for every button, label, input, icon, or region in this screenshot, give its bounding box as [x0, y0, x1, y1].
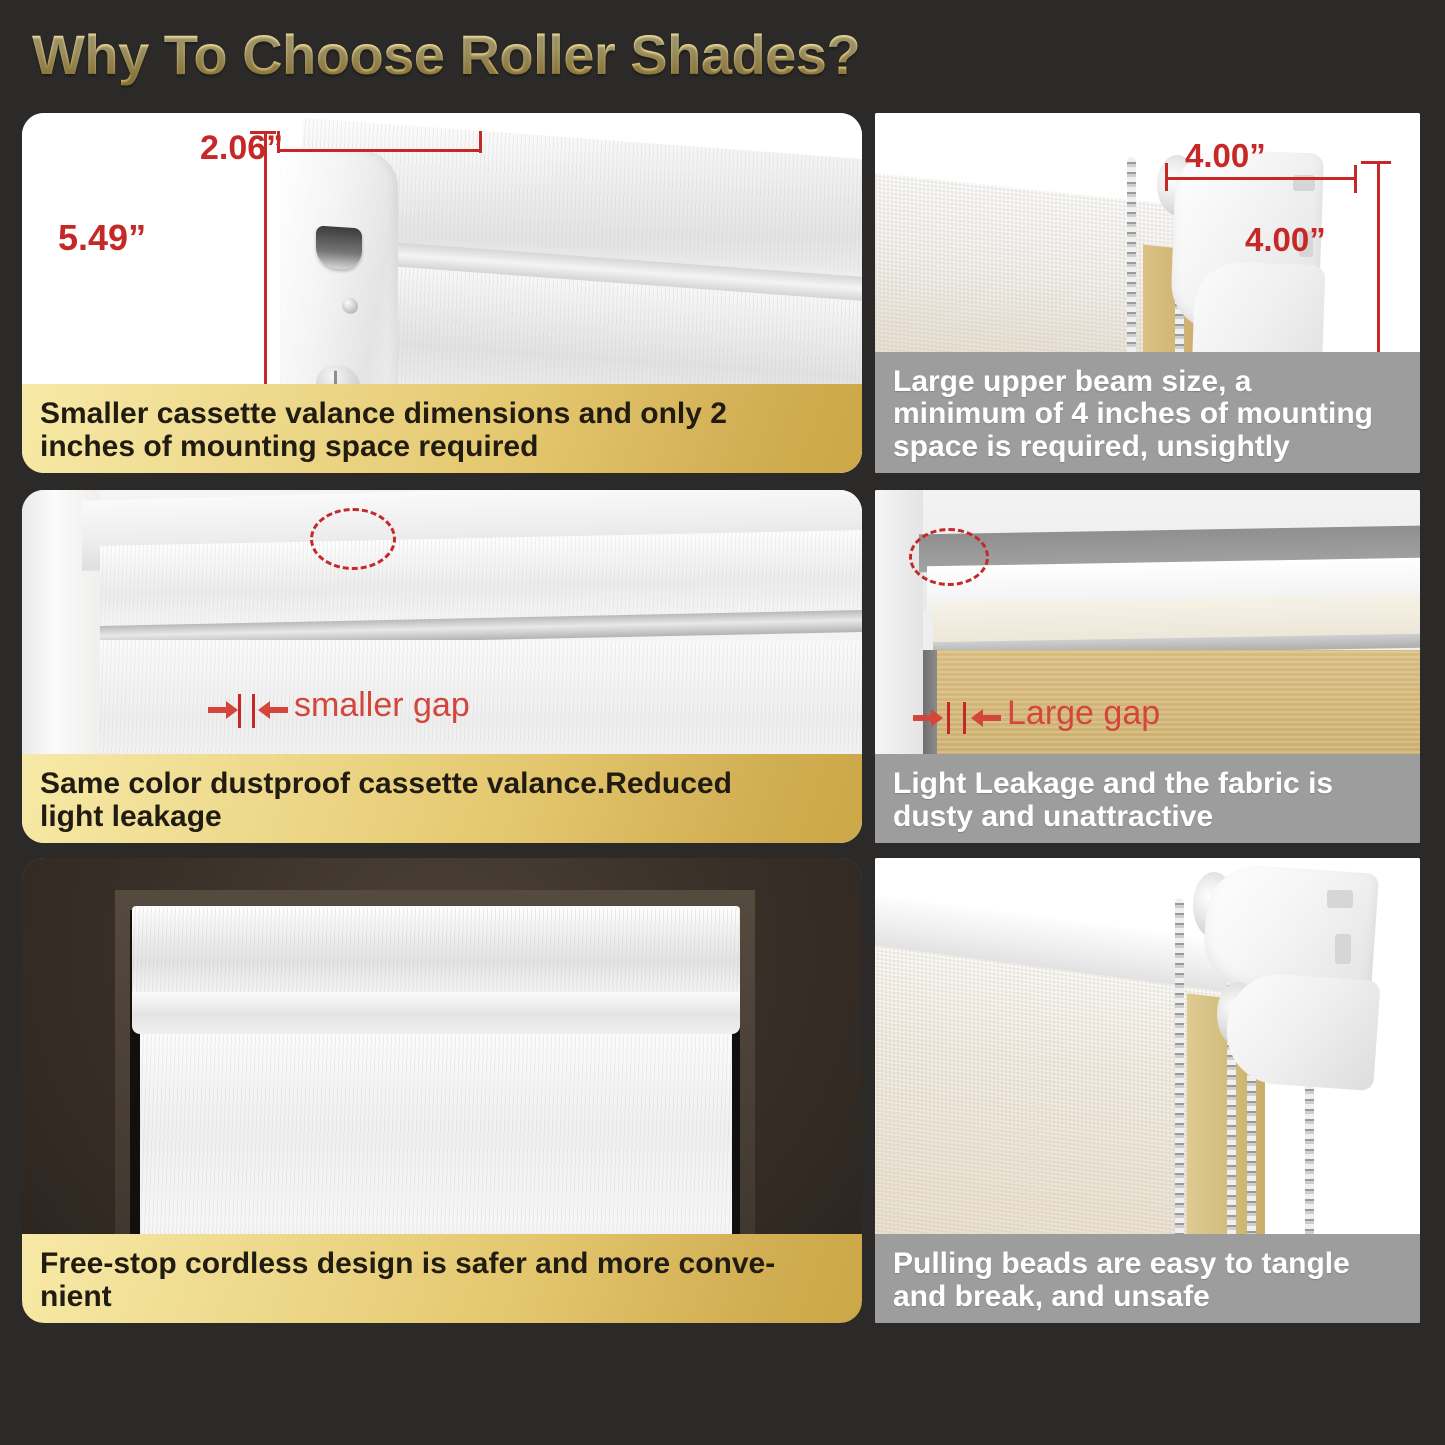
arrow-left-icon	[971, 706, 1001, 730]
caption-panel-1: Smaller cassette valance dimensions and …	[22, 384, 862, 473]
valance-end-cap	[280, 145, 398, 423]
caption-panel-6-line2: and break, and unsafe	[893, 1281, 1350, 1313]
highlight-ellipse-gap	[310, 508, 396, 570]
shade-headrail-lip	[132, 992, 740, 1034]
mounting-bracket-lower	[1223, 971, 1380, 1091]
caption-panel-4-line2: dusty and unattractive	[893, 801, 1333, 833]
arrow-left-icon	[258, 698, 288, 722]
panel-cassette-valance-dimensions: 2.06” 5.49” Smaller cassette valance dim…	[22, 113, 862, 473]
beam-width-dimension-label: 4.00”	[1185, 137, 1266, 175]
title-bar: Why To Choose Roller Shades?	[0, 0, 1445, 100]
panel-smaller-gap: smaller gap Same color dustproof cassett…	[22, 490, 862, 843]
smaller-gap-label: smaller gap	[294, 686, 470, 725]
gap-edge-left	[947, 702, 950, 734]
caption-panel-6: Pulling beads are easy to tangle and bre…	[875, 1234, 1420, 1323]
beam-width-tick-right	[1354, 165, 1357, 193]
caption-panel-2-line2: minimum of 4 inches of mounting	[893, 398, 1373, 430]
gap-edge-left	[238, 694, 241, 728]
caption-panel-2-line1: Large upper beam size, a	[893, 366, 1373, 398]
gap-edge-right	[252, 694, 255, 728]
caption-panel-3-line2: light leakage	[40, 801, 732, 833]
caption-panel-5: Free-stop cordless design is safer and m…	[22, 1234, 862, 1323]
panel-pulling-beads: Pulling beads are easy to tangle and bre…	[875, 858, 1420, 1323]
beam-width-dimension-line	[1165, 177, 1357, 180]
width-dimension-tick-right	[479, 131, 482, 153]
gap-edge-right	[963, 702, 966, 734]
beam-width-tick-left	[1165, 163, 1168, 191]
panel-large-upper-beam: 4.00” 4.00” Large upper beam size, a min…	[875, 113, 1420, 473]
page-title: Why To Choose Roller Shades?	[32, 22, 860, 87]
caption-panel-1-line2: inches of mounting space required	[40, 431, 727, 463]
shade-cassette-headrail	[132, 906, 740, 996]
bracket-slot-2	[1335, 934, 1351, 964]
caption-panel-4-line1: Light Leakage and the fabric is	[893, 768, 1333, 800]
caption-panel-2: Large upper beam size, a minimum of 4 in…	[875, 352, 1420, 473]
panel-cordless-design: Free-stop cordless design is safer and m…	[22, 858, 862, 1323]
bracket-slot-1	[1327, 890, 1353, 908]
arrow-right-icon	[208, 698, 238, 722]
large-gap-label: Large gap	[1007, 694, 1160, 733]
width-dimension-label: 2.06”	[200, 129, 283, 168]
caption-panel-3-line1: Same color dustproof cassette valance.Re…	[40, 768, 732, 800]
caption-panel-3: Same color dustproof cassette valance.Re…	[22, 754, 862, 843]
end-cap-screw	[342, 297, 358, 314]
height-dimension-label: 5.49”	[58, 217, 146, 259]
beam-height-dimension-label: 4.00”	[1245, 221, 1326, 259]
width-dimension-line	[277, 149, 482, 152]
caption-panel-6-line1: Pulling beads are easy to tangle	[893, 1248, 1350, 1280]
height-dimension-tick-top	[250, 131, 276, 134]
arrow-right-icon	[913, 706, 943, 730]
caption-panel-1-line1: Smaller cassette valance dimensions and …	[40, 398, 727, 430]
panel-large-gap: Large gap Light Leakage and the fabric i…	[875, 490, 1420, 843]
height-dimension-line	[264, 131, 267, 423]
highlight-ellipse-gap	[909, 528, 989, 586]
caption-panel-5-line1: Free-stop cordless design is safer and m…	[40, 1248, 775, 1280]
caption-panel-5-line2: nient	[40, 1281, 775, 1313]
end-cap-slot	[316, 225, 362, 270]
caption-panel-2-line3: space is required, unsightly	[893, 431, 1373, 463]
caption-panel-4: Light Leakage and the fabric is dusty an…	[875, 754, 1420, 843]
beam-height-tick-top	[1361, 161, 1391, 164]
